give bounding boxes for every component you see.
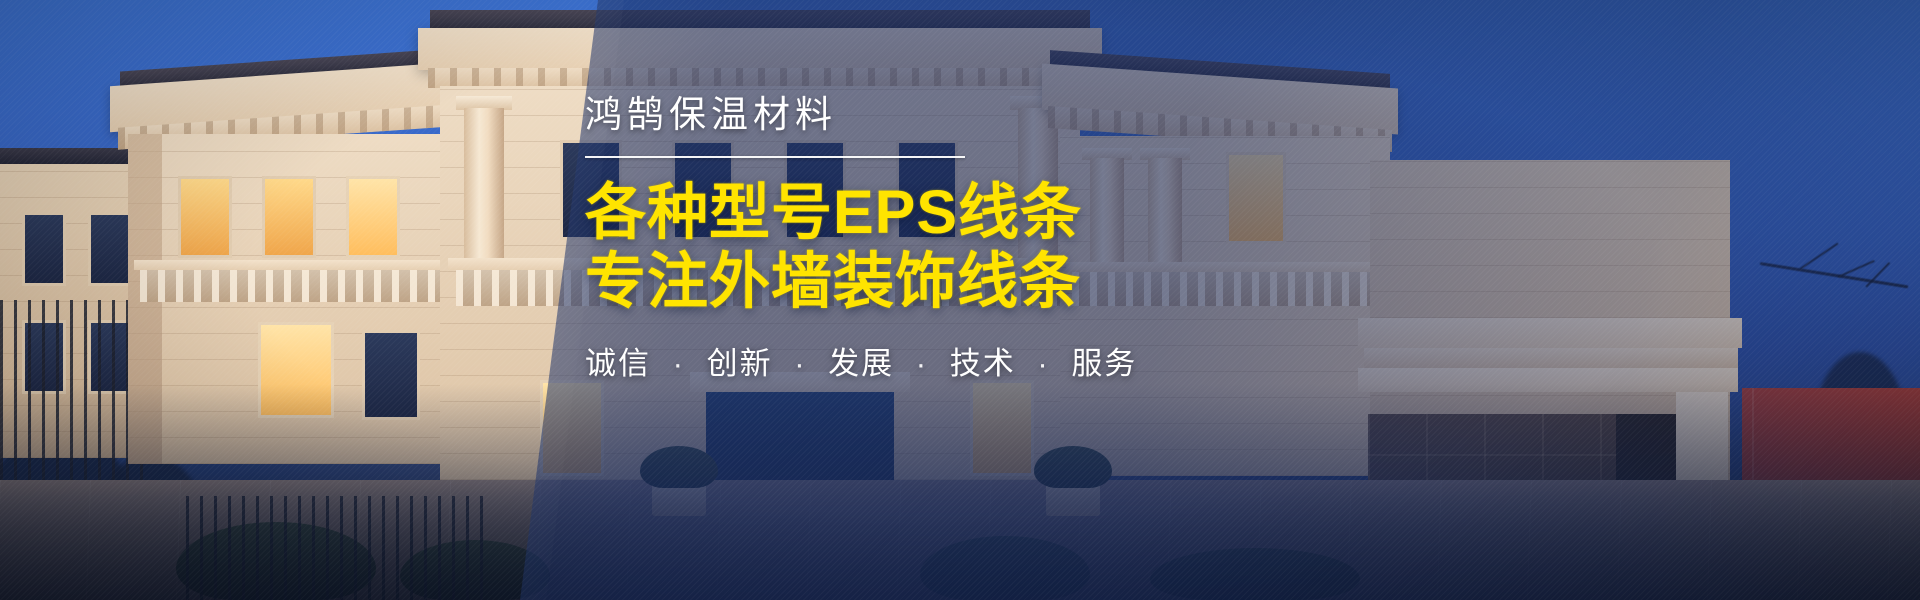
villa-window-upper-left-2	[262, 176, 316, 258]
headline-line-1: 各种型号EPS线条	[585, 178, 1585, 248]
hero-banner: 鸿鹄保温材料 各种型号EPS线条 专注外墙装饰线条 诚信 · 创新 · 发展 ·…	[0, 0, 1920, 600]
slogan-item-0: 诚信	[585, 346, 651, 381]
title-divider-rule	[585, 156, 965, 158]
slogan-item-3: 技术	[950, 346, 1016, 381]
slogan-item-4: 服务	[1071, 346, 1137, 381]
banner-text-block: 鸿鹄保温材料 各种型号EPS线条 专注外墙装饰线条 诚信 · 创新 · 发展 ·…	[585, 96, 1585, 382]
slogan-separator-2: ·	[905, 346, 939, 381]
headline-line-2: 专注外墙装饰线条	[585, 247, 1585, 317]
slogan-separator-1: ·	[783, 346, 817, 381]
slogan-item-1: 创新	[707, 346, 773, 381]
company-name: 鸿鹄保温材料	[585, 96, 1585, 135]
balustrade-rail	[140, 268, 440, 302]
subtitle-slogan: 诚信 · 创新 · 发展 · 技术 · 服务	[585, 345, 1585, 382]
villa-window-upper-left-3	[346, 176, 400, 258]
headline: 各种型号EPS线条 专注外墙装饰线条	[585, 178, 1585, 317]
villa-left-balustrade-cap	[134, 260, 446, 270]
villa-window-upper-left-1	[178, 176, 232, 258]
slogan-item-2: 发展	[828, 346, 894, 381]
villa-left-balustrade	[140, 268, 440, 302]
villa-column-1	[464, 108, 504, 268]
slogan-separator-0: ·	[662, 346, 696, 381]
slogan-separator-3: ·	[1026, 346, 1060, 381]
